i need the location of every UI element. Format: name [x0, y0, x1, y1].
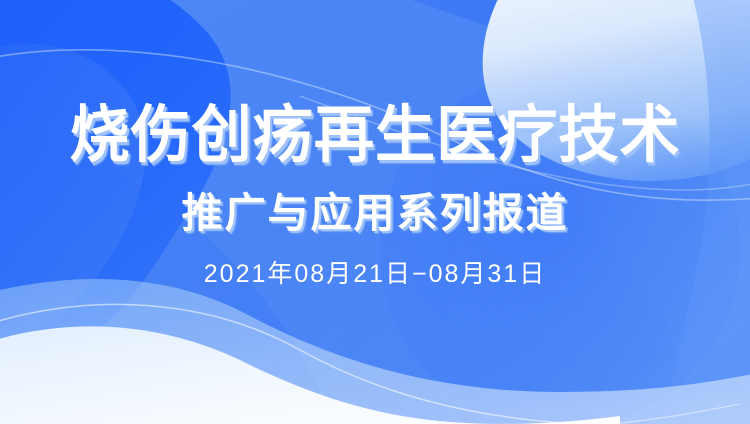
banner-subheadline: 推广与应用系列报道 — [182, 188, 569, 238]
banner-headline: 烧伤创疡再生医疗技术 — [69, 100, 680, 172]
banner-text-stack: 烧伤创疡再生医疗技术 推广与应用系列报道 2021年08月21日−08月31日 — [0, 0, 750, 424]
banner-date-range: 2021年08月21日−08月31日 — [204, 258, 546, 290]
banner-root: 烧伤创疡再生医疗技术 推广与应用系列报道 2021年08月21日−08月31日 — [0, 0, 750, 424]
